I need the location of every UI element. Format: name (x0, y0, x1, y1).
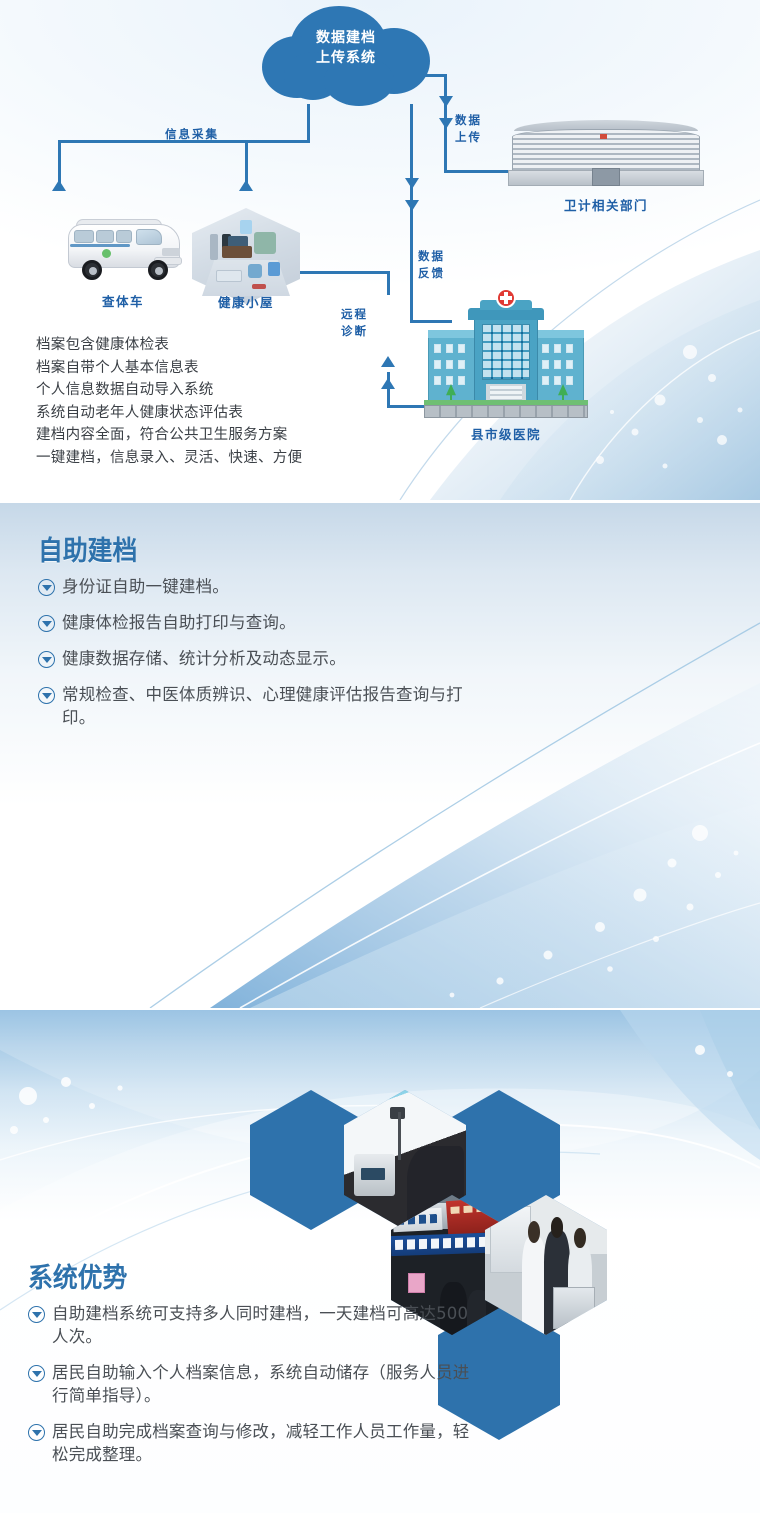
section-system-diagram: 数据建档 上传系统 信息采集 数据 上传 数据 反馈 远程 诊断 查体车 (0, 0, 760, 500)
section3-title: 系统优势 (28, 1256, 127, 1295)
van-windshield (136, 229, 162, 245)
bullet-text: 身份证自助一键建档。 (62, 575, 229, 598)
hospital-window-grid (482, 324, 530, 380)
feature-line: 系统自动老年人健康状态评估表 (36, 402, 436, 425)
van-badge (102, 249, 111, 258)
chevron-down-circle-icon (38, 615, 55, 632)
section-system-advantages: 系统优势 自助建档系统可支持多人同时建档，一天建档可高达500人次。 居民自助输… (0, 1010, 760, 1513)
gov-entrance (592, 168, 620, 186)
hospital-window (554, 376, 561, 385)
list-item: 健康体检报告自助打印与查询。 (38, 611, 493, 634)
flow-label-upload-line2: 上传 (455, 129, 482, 146)
hospital-window (446, 376, 453, 385)
chevron-down-circle-icon (38, 579, 55, 596)
section-self-service-archiving: 自助建档 身份证自助一键建档。 健康体检报告自助打印与查询。 健康数据存储、统计… (0, 503, 760, 1008)
hospital-right-wing-cap (534, 330, 584, 338)
arrow-down-gov-1-icon (439, 96, 453, 107)
van-window (96, 230, 114, 243)
flow-label-upload: 数据 上传 (455, 112, 482, 147)
hospital-window (554, 360, 561, 369)
hospital-window (458, 360, 465, 369)
bullet-text: 居民自助输入个人档案信息，系统自动储存（服务人员进行简单指导）。 (52, 1361, 473, 1407)
list-item: 居民自助输入个人档案信息，系统自动储存（服务人员进行简单指导）。 (28, 1361, 473, 1407)
van-wheel (148, 260, 168, 280)
arrow-up-hut-icon (239, 180, 253, 191)
section3-bullet-list: 自助建档系统可支持多人同时建档，一天建档可高达500人次。 居民自助输入个人档案… (28, 1302, 473, 1479)
section2-bullet-list: 身份证自助一键建档。 健康体检报告自助打印与查询。 健康数据存储、统计分析及动态… (38, 575, 493, 742)
cloud-label-line1: 数据建档 (262, 28, 430, 48)
bullet-text: 健康体检报告自助打印与查询。 (62, 611, 296, 634)
arrow-down-feedback-1-icon (405, 178, 419, 189)
hospital-window (566, 360, 573, 369)
van-wheel (82, 260, 102, 280)
flow-label-feedback-line1: 数据 (418, 248, 445, 265)
hospital-window (554, 344, 561, 353)
hospital-window (542, 344, 549, 353)
connector-to-hut (245, 140, 248, 184)
hut-equipment-monitor (240, 220, 252, 234)
hospital-cross-horizontal (500, 296, 512, 300)
bullet-text: 健康数据存储、统计分析及动态显示。 (62, 647, 346, 670)
chevron-down-circle-icon (38, 687, 55, 704)
connector-feedback-vertical (410, 104, 413, 322)
hospital-base-fence (424, 405, 588, 418)
hospital-window (458, 344, 465, 353)
node-caption-hut: 健康小屋 (190, 292, 302, 311)
bullet-text: 居民自助完成档案查询与修改，减轻工作人员工作量，轻松完成整理。 (52, 1420, 473, 1466)
node-caption-hospital: 县市级医院 (424, 424, 588, 443)
bullet-text: 自助建档系统可支持多人同时建档，一天建档可高达500人次。 (52, 1302, 473, 1348)
chevron-down-circle-icon (28, 1424, 45, 1441)
flow-label-feedback: 数据 反馈 (418, 248, 445, 283)
hospital-window (566, 376, 573, 385)
hospital-window (542, 360, 549, 369)
hospital-window (446, 344, 453, 353)
chevron-down-circle-icon (28, 1365, 45, 1382)
connector-gov-horizontal (444, 170, 510, 173)
feature-line: 建档内容全面，符合公共卫生服务方案 (36, 424, 436, 447)
hut-chair (248, 264, 262, 278)
feature-line: 个人信息数据自动导入系统 (36, 379, 436, 402)
hospital-window (458, 376, 465, 385)
gov-flag (600, 134, 607, 139)
feature-line: 档案包含健康体检表 (36, 334, 436, 357)
hospital-window (446, 360, 453, 369)
flow-label-upload-line1: 数据 (455, 112, 482, 129)
bullet-text: 常规检查、中医体质辨识、心理健康评估报告查询与打印。 (62, 683, 493, 729)
medical-examination-van-illustration (62, 216, 184, 282)
hospital-window (542, 376, 549, 385)
van-stripe (70, 244, 130, 247)
hut-desk (222, 246, 252, 258)
node-caption-gov: 卫计相关部门 (508, 195, 704, 214)
hut-bed (216, 270, 242, 282)
section2-title: 自助建档 (38, 529, 137, 568)
flow-label-feedback-line2: 反馈 (418, 265, 445, 282)
list-item: 健康数据存储、统计分析及动态显示。 (38, 647, 493, 670)
connector-hut-to-remote (300, 271, 390, 274)
health-hut-illustration (192, 208, 300, 304)
van-window (74, 230, 94, 243)
county-hospital-illustration (424, 296, 588, 418)
arrow-up-van-icon (52, 180, 66, 191)
feature-line: 一键建档，信息录入、灵活、快速、方便 (36, 447, 436, 470)
hut-equipment-screen (210, 234, 218, 260)
chevron-down-circle-icon (38, 651, 55, 668)
connector-to-van (58, 140, 61, 184)
cloud-label: 数据建档 上传系统 (262, 28, 430, 69)
node-caption-van: 查体车 (62, 291, 184, 310)
hut-cabinet (254, 232, 276, 254)
list-item: 自助建档系统可支持多人同时建档，一天建档可高达500人次。 (28, 1302, 473, 1348)
list-item: 身份证自助一键建档。 (38, 575, 493, 598)
list-item: 居民自助完成档案查询与修改，减轻工作人员工作量，轻松完成整理。 (28, 1420, 473, 1466)
arrow-down-feedback-2-icon (405, 200, 419, 211)
feature-line: 档案自带个人基本信息表 (36, 357, 436, 380)
health-bureau-building-photo (508, 120, 704, 188)
hut-red-mat (252, 284, 266, 289)
chevron-down-circle-icon (28, 1306, 45, 1323)
flow-label-remote-line1: 远程 (341, 306, 368, 323)
arrow-down-gov-2-icon (439, 118, 453, 129)
hospital-window (566, 344, 573, 353)
flow-label-collect: 信息采集 (165, 126, 219, 143)
list-item: 常规检查、中医体质辨识、心理健康评估报告查询与打印。 (38, 683, 493, 729)
hut-device (268, 262, 280, 276)
feature-text-list: 档案包含健康体检表 档案自带个人基本信息表 个人信息数据自动导入系统 系统自动老… (36, 334, 436, 469)
connector-remote-down (387, 271, 390, 295)
van-grille (162, 248, 180, 256)
van-window (116, 230, 132, 243)
cloud-label-line2: 上传系统 (262, 48, 430, 68)
